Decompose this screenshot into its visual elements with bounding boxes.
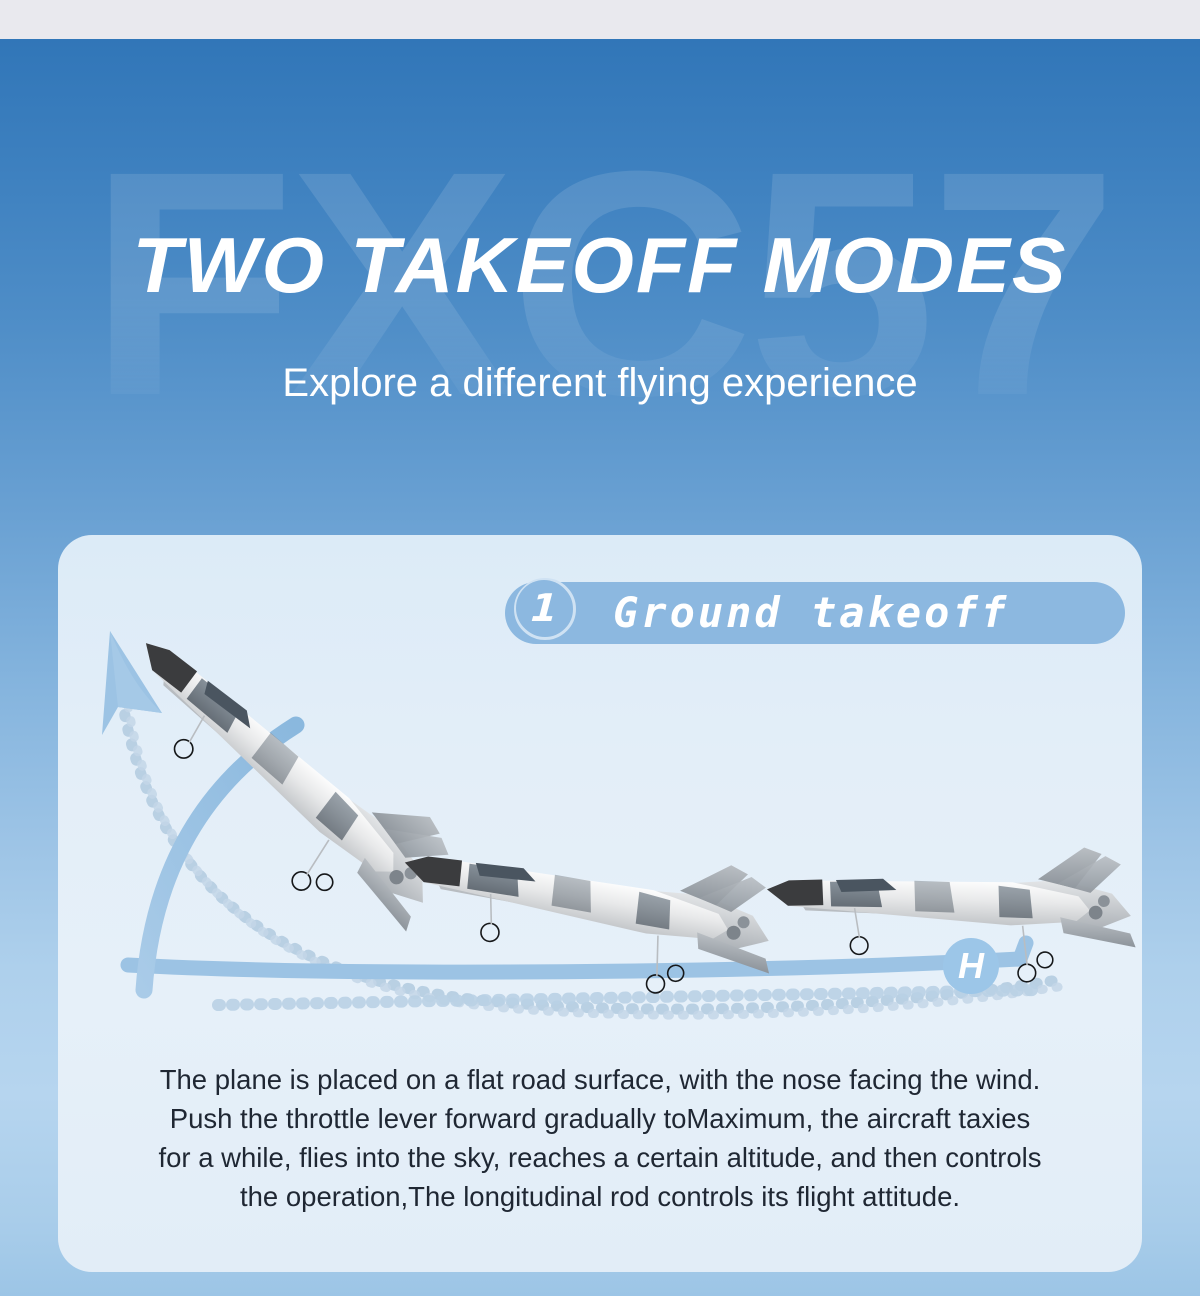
step-badge-pill: Ground takeoff [505,582,1125,644]
step-number: 1 [529,589,558,627]
ground-line [128,943,1026,972]
step-number-badge: 1 [514,578,580,644]
description-text: The plane is placed on a flat road surfa… [58,1060,1142,1216]
description-line-1: The plane is placed on a flat road surfa… [58,1060,1142,1099]
page-subtitle: Explore a different flying experience [0,358,1200,408]
helipad-label: H [958,948,984,984]
step-label: Ground takeoff [613,590,1009,636]
description-line-2: Push the throttle lever forward graduall… [58,1099,1142,1138]
top-strip [0,0,1200,39]
step-number-circle: 1 [516,580,572,636]
page-title: TWO TAKEOFF MODES [0,222,1200,308]
description-line-3: for a while, flies into the sky, reaches… [58,1138,1142,1177]
description-line-4: the operation,The longitudinal rod contr… [58,1177,1142,1216]
helipad-marker: H [943,938,999,994]
product-infographic-page: FXC57 TWO TAKEOFF MODES Explore a differ… [0,0,1200,1296]
aircraft-mid-climb [390,809,786,1012]
